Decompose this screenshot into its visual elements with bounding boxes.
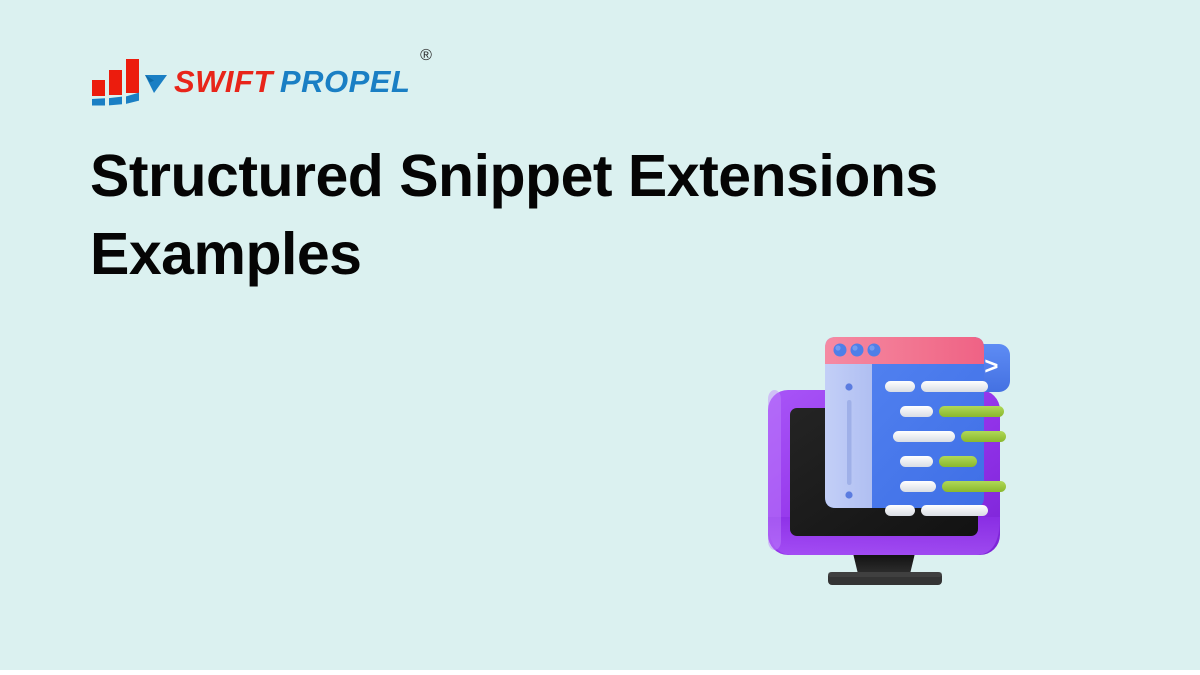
- brand-propel-text: PROPEL: [280, 66, 410, 97]
- registered-trademark-icon: ®: [420, 48, 432, 64]
- brand-swift-text: SWIFT: [174, 66, 273, 97]
- code-window: [825, 337, 1006, 516]
- banner: SWIFT PROPEL ® Structured Snippet Extens…: [0, 0, 1200, 670]
- window-dots: [834, 344, 881, 357]
- bar-chart-arrow-icon: [90, 56, 168, 106]
- window-titlebar: [825, 337, 984, 364]
- page-title: Structured Snippet Extensions Examples: [90, 138, 1090, 294]
- brand-wordmark: SWIFT PROPEL ®: [174, 66, 410, 97]
- brand-logo[interactable]: SWIFT PROPEL ®: [90, 52, 410, 110]
- code-window-on-monitor-illustration: </>: [748, 312, 1048, 602]
